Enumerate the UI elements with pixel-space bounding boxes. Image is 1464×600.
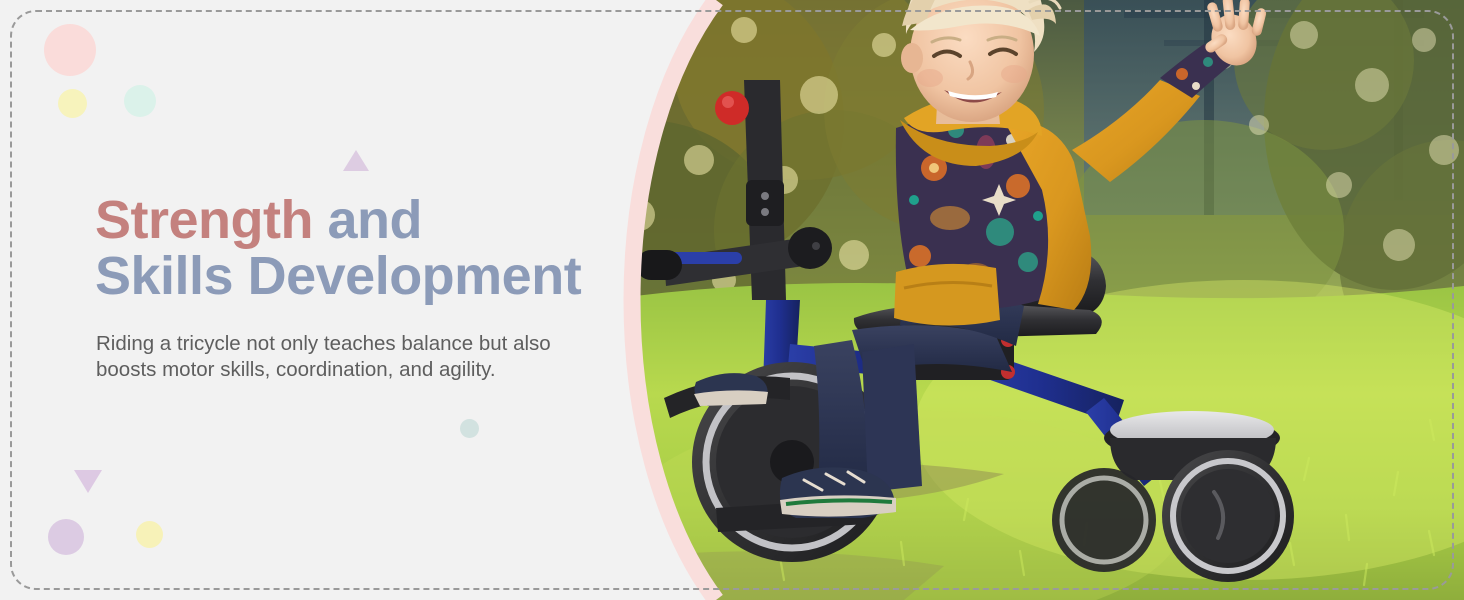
pink-circle-large-icon [44, 24, 96, 76]
headline-part-skills-development: Skills Development [95, 246, 581, 306]
lavender-circle-icon [48, 519, 84, 555]
lavender-triangle-up-icon [343, 150, 369, 171]
yellow-circle-small-icon [58, 89, 87, 118]
yellow-circle-bottom-icon [136, 521, 163, 548]
headline-part-and: and [313, 190, 422, 250]
lavender-triangle-down-icon [74, 470, 102, 493]
body-copy: Riding a tricycle not only teaches balan… [96, 331, 576, 383]
promo-banner: Strength and Skills Development Riding a… [0, 0, 1464, 600]
blue-dot-icon [460, 419, 479, 438]
hero-photo [604, 0, 1464, 600]
headline-part-strength: Strength [95, 190, 313, 250]
photo-edge-stroke [604, 0, 1464, 600]
page-title: Strength and Skills Development [95, 192, 615, 304]
mint-circle-small-icon [124, 85, 156, 117]
